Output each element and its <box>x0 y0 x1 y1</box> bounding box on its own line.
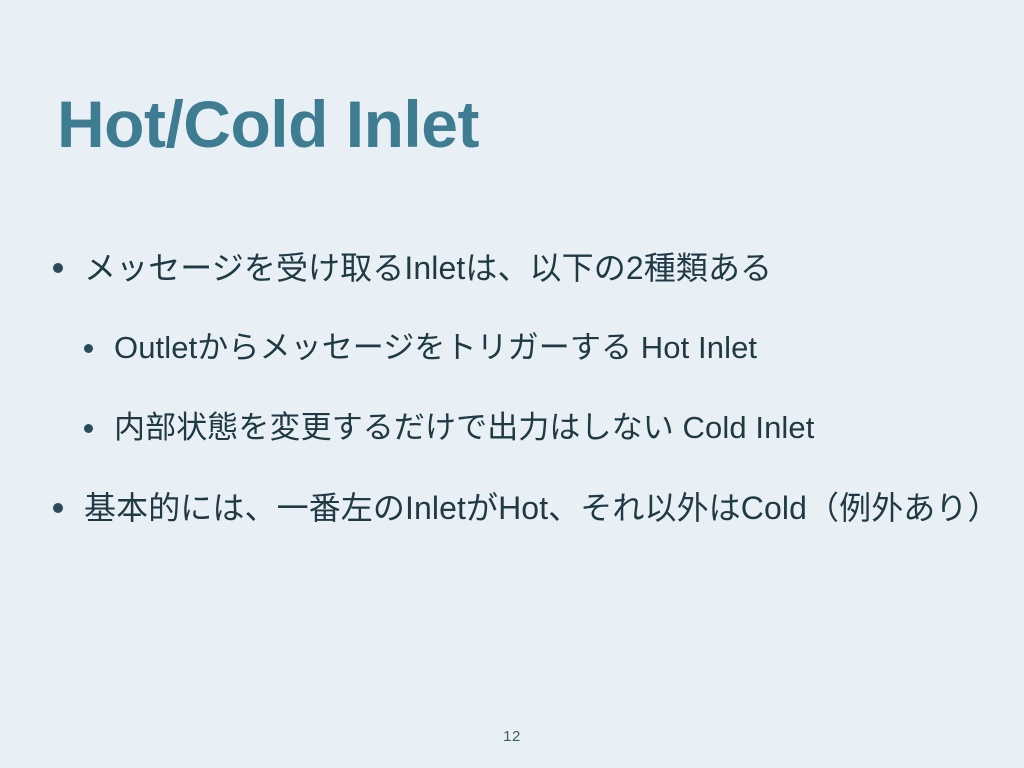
page-title: Hot/Cold Inlet <box>57 86 479 162</box>
bullet-dot-icon <box>52 503 84 513</box>
list-item-label: Outletからメッセージをトリガーする Hot Inlet <box>114 328 1024 368</box>
bullet-dot-icon <box>82 344 114 353</box>
bullet-list: メッセージを受け取るInletは、以下の2種類ある Outletからメッセージを… <box>0 228 1024 548</box>
page-number: 12 <box>0 727 1024 747</box>
list-item: メッセージを受け取るInletは、以下の2種類ある <box>0 228 1024 308</box>
list-item-label: 内部状態を変更するだけで出力はしない Cold Inlet <box>114 408 1024 448</box>
bullet-dot-icon <box>52 263 84 273</box>
list-item: Outletからメッセージをトリガーする Hot Inlet <box>0 308 1024 388</box>
bullet-dot-icon <box>82 424 114 433</box>
list-item-label: 基本的には、一番左のInletがHot、それ以外はCold（例外あり） <box>84 488 1024 528</box>
list-item: 内部状態を変更するだけで出力はしない Cold Inlet <box>0 388 1024 468</box>
list-item-label: メッセージを受け取るInletは、以下の2種類ある <box>84 248 1024 288</box>
list-item: 基本的には、一番左のInletがHot、それ以外はCold（例外あり） <box>0 468 1024 548</box>
presentation-slide: Hot/Cold Inlet メッセージを受け取るInletは、以下の2種類ある… <box>0 0 1024 768</box>
